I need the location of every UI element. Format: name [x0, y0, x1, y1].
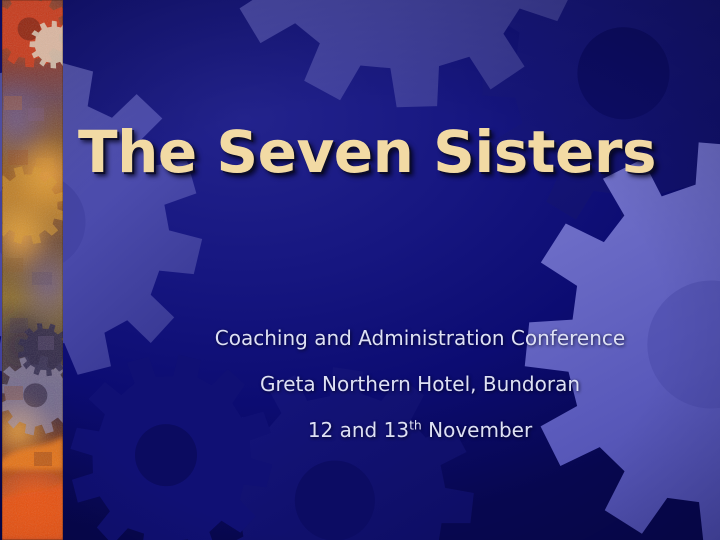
subtitle-line-conference: Coaching and Administration Conference: [150, 326, 690, 350]
subtitle-line-date: 12 and 13th November: [150, 418, 690, 442]
subtitle-line-venue: Greta Northern Hotel, Bundoran: [150, 372, 690, 396]
slide-title: The Seven Sisters: [78, 118, 638, 186]
decorative-gear-texture-band: [2, 0, 63, 540]
date-month: November: [422, 418, 532, 442]
presentation-slide: The Seven Sisters Coaching and Administr…: [0, 0, 720, 540]
date-ordinal-suffix: th: [409, 417, 422, 432]
slide-subtitle-container: Coaching and Administration Conference G…: [150, 326, 690, 442]
slide-title-container: The Seven Sisters: [78, 118, 638, 186]
date-prefix: 12 and 13: [308, 418, 409, 442]
background-gear-decorations: [0, 0, 720, 540]
